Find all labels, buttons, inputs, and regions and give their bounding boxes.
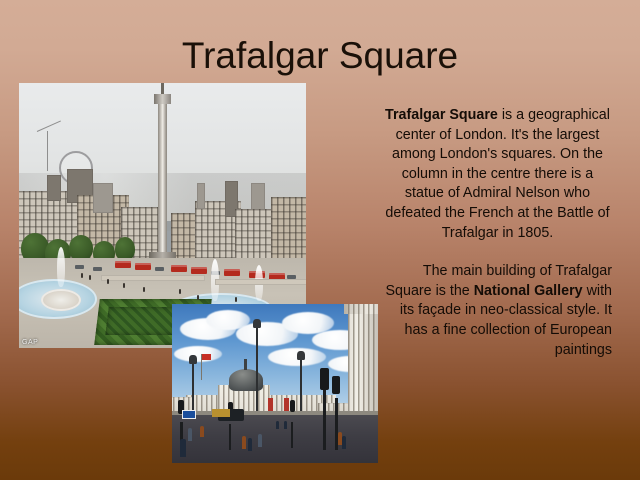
pedestrian bbox=[284, 421, 287, 429]
double-decker-bus bbox=[224, 269, 240, 276]
photo-gallery-content bbox=[172, 304, 378, 463]
pedestrian bbox=[258, 434, 262, 447]
pedestrian bbox=[179, 289, 181, 294]
traffic-light-pole bbox=[323, 390, 326, 450]
pedestrian bbox=[89, 275, 91, 280]
para1-plain-run: is a geographical center of London. It's… bbox=[385, 107, 610, 241]
yellow-barrier bbox=[212, 409, 230, 417]
double-decker-bus bbox=[135, 263, 151, 270]
road-surface bbox=[172, 415, 378, 463]
pedestrian bbox=[235, 297, 237, 302]
pedestrian bbox=[81, 273, 83, 278]
traffic-light bbox=[320, 368, 329, 390]
street-sign bbox=[182, 410, 196, 419]
pedestrian bbox=[276, 421, 279, 429]
car bbox=[75, 265, 84, 269]
pedestrian bbox=[123, 283, 125, 288]
fountain-jet bbox=[57, 247, 65, 287]
photo-watermark: GAP bbox=[22, 339, 38, 346]
lamp-post bbox=[256, 326, 258, 422]
building-block bbox=[93, 183, 113, 213]
para2-bold-run: National Gallery bbox=[474, 283, 583, 299]
slide-canvas: Trafalgar Square bbox=[0, 0, 640, 480]
traffic-light-pole bbox=[291, 422, 293, 448]
balustrade bbox=[215, 279, 306, 285]
pedestrian bbox=[180, 439, 186, 457]
traffic-light bbox=[332, 376, 340, 394]
pedestrian bbox=[242, 436, 246, 449]
pedestrian bbox=[188, 428, 192, 441]
pedestrian bbox=[248, 438, 252, 451]
paragraph-trafalgar-square: Trafalgar Square is a geographical cente… bbox=[383, 106, 612, 243]
pedestrian bbox=[197, 295, 199, 300]
pedestrian bbox=[342, 436, 346, 449]
body-text-block: Trafalgar Square is a geographical cente… bbox=[383, 106, 612, 360]
paragraph-spacer bbox=[383, 243, 612, 262]
page-title: Trafalgar Square bbox=[0, 34, 640, 78]
building-block bbox=[47, 175, 61, 201]
traffic-light-pole bbox=[229, 424, 231, 450]
flagpole bbox=[201, 354, 202, 380]
car bbox=[155, 267, 164, 271]
paragraph-national-gallery: The main building of Trafalgar Square is… bbox=[383, 262, 612, 360]
pedestrian bbox=[143, 287, 145, 292]
balustrade bbox=[101, 275, 205, 281]
construction-crane-icon bbox=[47, 131, 48, 171]
column-capital bbox=[154, 94, 171, 104]
national-gallery-photo bbox=[172, 304, 378, 463]
church-spire-icon bbox=[197, 183, 205, 209]
car bbox=[93, 267, 102, 271]
fountain-basin bbox=[41, 289, 81, 311]
cloud bbox=[174, 346, 222, 362]
nelsons-column bbox=[158, 103, 167, 253]
double-decker-bus bbox=[115, 261, 131, 268]
traffic-light bbox=[290, 400, 295, 412]
pedestrian bbox=[200, 426, 204, 437]
double-decker-bus bbox=[191, 267, 207, 274]
double-decker-bus bbox=[171, 265, 187, 272]
flag bbox=[202, 354, 211, 360]
window-grid bbox=[271, 197, 306, 267]
pedestrian bbox=[107, 279, 109, 284]
building-block bbox=[271, 197, 306, 267]
para1-bold-run: Trafalgar Square bbox=[385, 107, 498, 123]
